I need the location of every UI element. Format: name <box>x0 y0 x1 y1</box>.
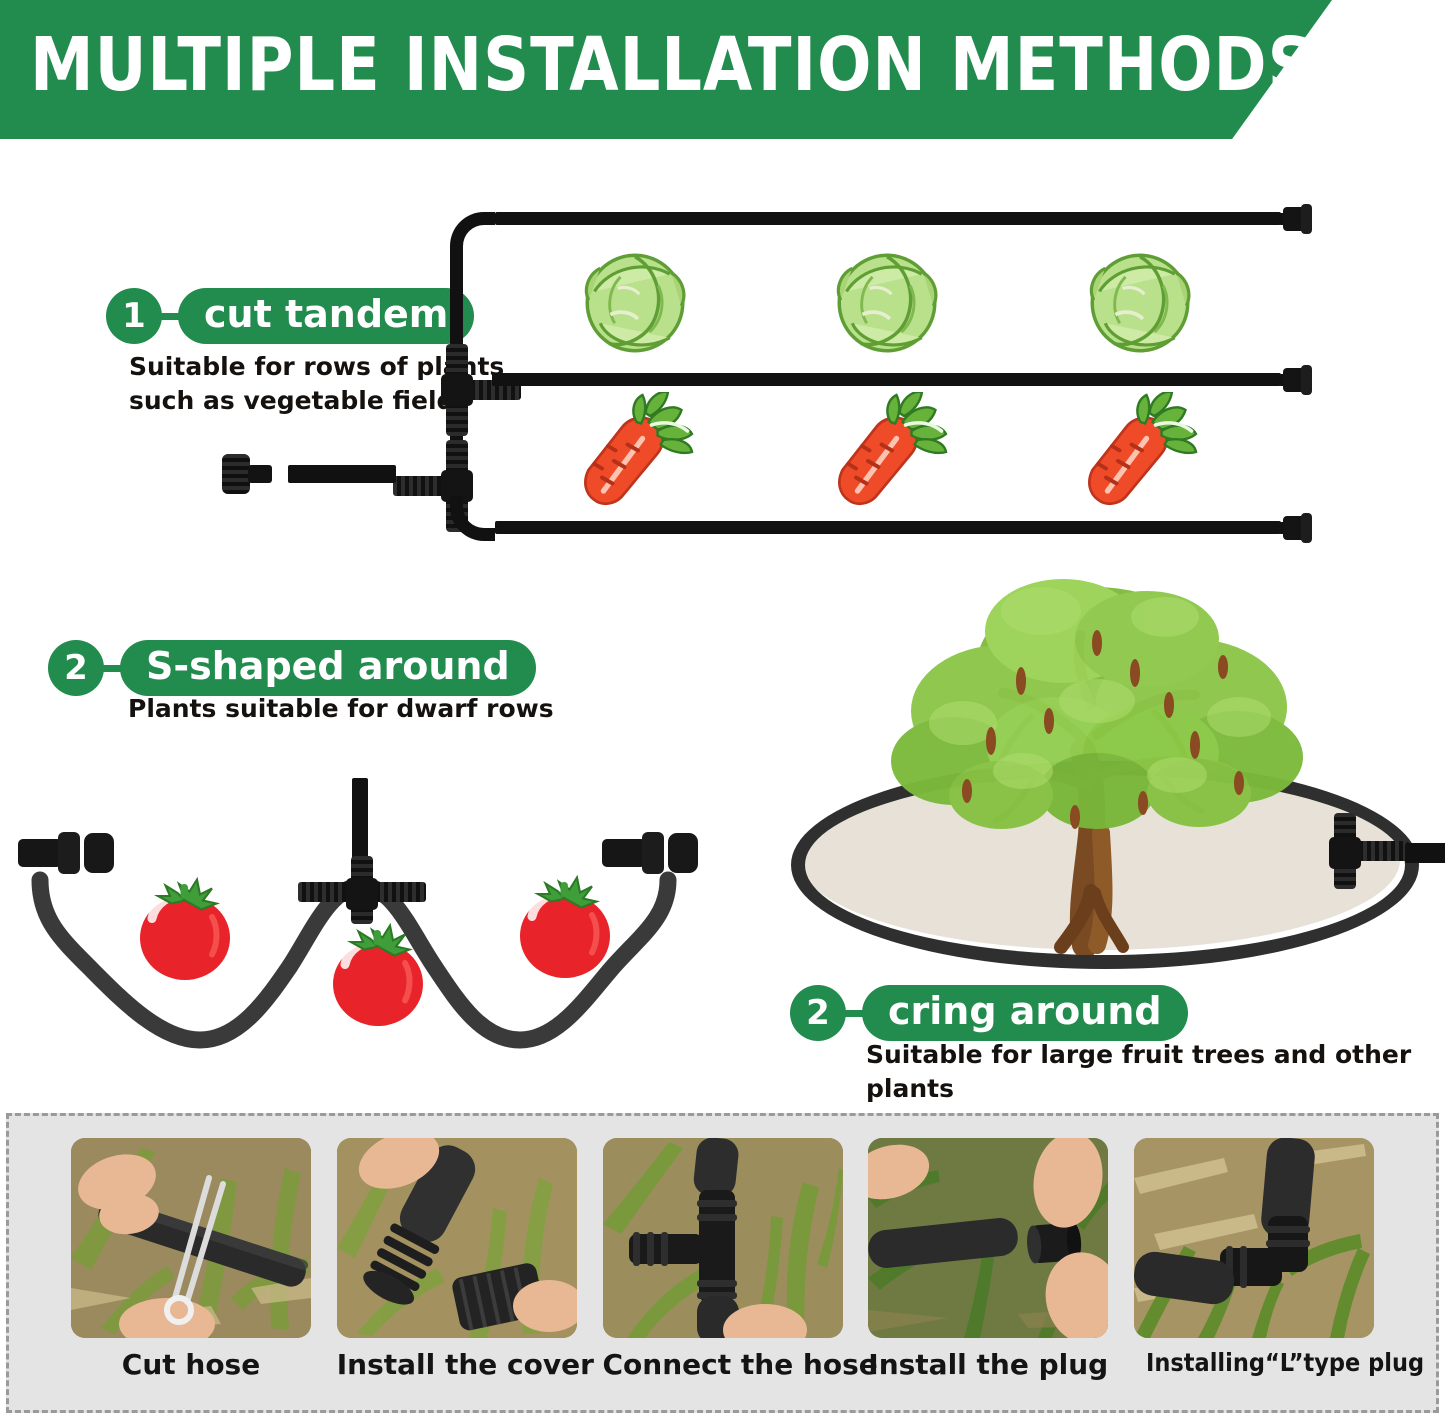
carrot-icon <box>558 392 718 512</box>
method-2-number: 2 <box>48 640 104 696</box>
hose-row-bottom <box>495 521 1281 534</box>
end-cap-left <box>18 830 114 876</box>
supply-hose-inlet <box>288 465 396 483</box>
method-1-number: 1 <box>106 288 162 344</box>
method-3-badge: 2 cring around <box>790 985 1188 1041</box>
faucet-connector <box>222 454 272 494</box>
step-photo-install-l-plug[interactable] <box>1134 1138 1374 1338</box>
step-caption-2: Install the cover <box>337 1348 577 1381</box>
method-2-badge: 2 S-shaped around <box>48 640 536 696</box>
cabbage-icon <box>812 248 962 358</box>
steps-captions: Cut hose Install the cover Connect the h… <box>9 1348 1436 1381</box>
tee-fitting-upper <box>439 344 475 436</box>
method-3-description: Suitable for large fruit trees and other… <box>866 1038 1426 1106</box>
step-caption-3: Connect the hose <box>603 1348 843 1381</box>
hose-row-middle <box>492 373 1281 386</box>
page-title: MULTIPLE INSTALLATION METHODS <box>30 22 1315 108</box>
step-photo-connect-hose[interactable] <box>603 1138 843 1338</box>
step-caption-1: Cut hose <box>71 1348 311 1381</box>
method-2-label: S-shaped around <box>120 640 536 696</box>
fruit-tree-icon <box>835 555 1355 955</box>
tree-ring-diagram <box>775 555 1445 975</box>
method-3-number: 2 <box>790 985 846 1041</box>
step-caption-4: Install the plug <box>868 1348 1108 1381</box>
end-plug-middle <box>1279 365 1313 395</box>
tomato-icon <box>318 916 438 1031</box>
infographic-page: MULTIPLE INSTALLATION METHODS 1 cut tand… <box>0 0 1445 1419</box>
end-plug-top <box>1279 204 1313 234</box>
hose-row-top <box>495 212 1281 225</box>
step-caption-5: Installing“L”type plug <box>1146 1348 1362 1381</box>
method-2-description: Plants suitable for dwarf rows <box>128 692 648 726</box>
method-1-label: cut tandem <box>178 288 474 344</box>
steps-thumbnails <box>9 1138 1436 1343</box>
manifold-pipe-upper <box>450 244 463 354</box>
method-1-badge: 1 cut tandem <box>106 288 474 344</box>
cabbage-icon <box>560 248 710 358</box>
tomato-icon <box>505 868 625 983</box>
carrot-icon <box>812 392 972 512</box>
badge-dash-icon <box>845 1010 863 1017</box>
step-photo-cut-hose[interactable] <box>71 1138 311 1338</box>
hose-corner-bottom-left <box>450 496 495 541</box>
badge-dash-icon <box>161 313 179 320</box>
riser-pipe <box>352 778 368 862</box>
cabbage-icon <box>1065 248 1215 358</box>
tomato-icon <box>125 870 245 985</box>
step-photo-install-plug[interactable] <box>868 1138 1108 1338</box>
steps-strip: Cut hose Install the cover Connect the h… <box>6 1113 1439 1413</box>
tee-fitting-ring <box>1327 813 1363 905</box>
carrot-icon <box>1062 392 1222 512</box>
end-plug-bottom <box>1279 513 1313 543</box>
badge-dash-icon <box>103 665 121 672</box>
method-3-label: cring around <box>862 985 1188 1041</box>
step-photo-install-cover[interactable] <box>337 1138 577 1338</box>
supply-hose-ring <box>1405 843 1445 863</box>
